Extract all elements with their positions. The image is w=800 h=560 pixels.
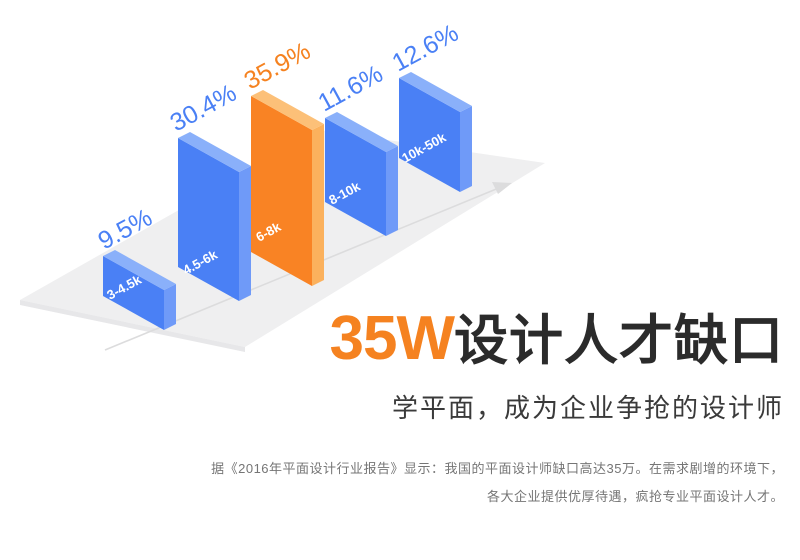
bar-side-face-5 — [460, 106, 472, 192]
headline-number: 35W — [330, 304, 454, 373]
bar-side-face-2 — [239, 166, 251, 301]
bar-value-label-4: 11.6% — [314, 60, 388, 118]
body-text-line-1: 据《2016年平面设计行业报告》显示：我国的平面设计师缺口高达35万。在需求剧增… — [211, 458, 784, 477]
text-block: 35W设计人才缺口 学平面，成为企业争抢的设计师 据《2016年平面设计行业报告… — [0, 300, 800, 560]
bar-value-label-2: 30.4% — [166, 79, 242, 137]
bar-group-3[interactable]: 6-8k 35.9% — [240, 37, 324, 286]
infographic-canvas: 3-4.5k 9.5% 4.5-6k 30.4% 6-8k 35.9% — [0, 0, 800, 560]
bar-value-label-3: 35.9% — [240, 37, 316, 95]
bar-side-face-3 — [312, 124, 324, 286]
bar-value-label-5: 12.6% — [388, 19, 464, 77]
headline-text: 设计人才缺口 — [454, 311, 784, 371]
subheadline: 学平面，成为企业争抢的设计师 — [392, 388, 784, 425]
bar-side-face-4 — [386, 146, 398, 236]
body-text-line-2: 各大企业提供优厚待遇，疯抢专业平面设计人才。 — [487, 486, 784, 505]
headline: 35W设计人才缺口 — [330, 308, 784, 370]
